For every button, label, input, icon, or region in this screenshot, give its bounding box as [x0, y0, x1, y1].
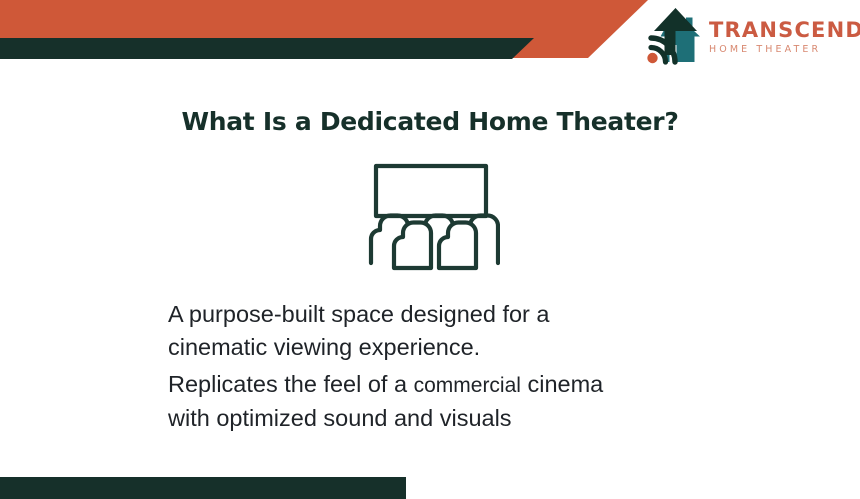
slide-title: What Is a Dedicated Home Theater?: [0, 107, 860, 136]
logo-wordmark: TRANSCEND HOME THEATER: [709, 18, 860, 55]
slide-canvas: TRANSCEND HOME THEATER What Is a Dedicat…: [0, 0, 860, 499]
paragraph-2-line-1: Replicates the feel of a commercial cine…: [168, 368, 728, 402]
paragraph-2-line-1-part-a: Replicates the feel of a: [168, 371, 414, 397]
cinema-audience-icon: [360, 158, 500, 276]
cinema-screen-icon: [376, 166, 486, 216]
paragraph-1: A purpose-built space designed for a cin…: [168, 298, 728, 364]
paragraph-2-emphasis-commercial: commercial: [414, 374, 521, 397]
paragraph-2: Replicates the feel of a commercial cine…: [168, 368, 728, 435]
audience-front-left-icon: [394, 223, 431, 269]
audience-front-right-icon: [439, 223, 476, 269]
bottom-accent-bar: [0, 477, 406, 499]
logo-subtitle: HOME THEATER: [709, 45, 860, 55]
paragraph-1-line-1: A purpose-built space designed for a: [168, 298, 728, 331]
wifi-dot-icon: [647, 53, 657, 63]
paragraph-1-line-2: cinematic viewing experience.: [168, 331, 728, 364]
brand-logo[interactable]: TRANSCEND HOME THEATER: [645, 4, 850, 68]
green-banner-shape: [0, 38, 534, 59]
logo-title: TRANSCEND: [709, 20, 860, 41]
house-wifi-logo-mark: [645, 5, 703, 67]
paragraph-2-line-2: with optimized sound and visuals: [168, 402, 728, 435]
paragraph-2-line-1-part-c: cinema: [521, 371, 603, 397]
slide-body-text: A purpose-built space designed for a cin…: [168, 298, 728, 435]
orange-banner-shape: [0, 0, 648, 58]
